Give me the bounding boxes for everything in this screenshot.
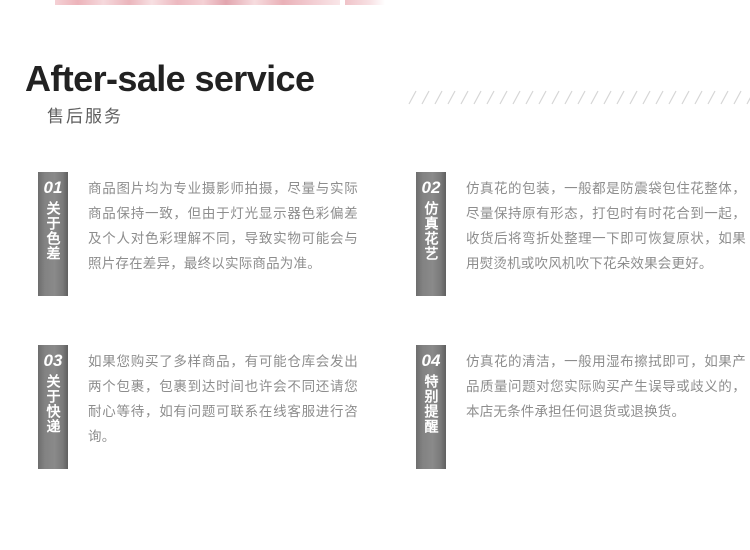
after-sale-service-page: After-sale service 售后服务 — [0, 0, 750, 550]
policy-row-1: 01 关于色差 商品图片均为专业摄影师拍摄，尽量与实际商品保持一致，但由于灯光显… — [0, 172, 750, 345]
policy-item-04: 04 特别提醒 仿真花的清洁，一般用湿布擦拭即可，如果产品质量问题对您实际购买产… — [416, 345, 746, 469]
policy-text-03: 如果您购买了多样商品，有可能仓库会发出两个包裹，包裹到达时间也许会不同还请您耐心… — [88, 345, 358, 449]
policy-text-02: 仿真花的包装，一般都是防震袋包住花整体，尽量保持原有形态，打包时有时花合到一起，… — [466, 172, 746, 276]
policy-number-01: 01 — [44, 177, 63, 199]
policy-label-03: 关于快递 — [44, 374, 63, 434]
policy-items-grid: 01 关于色差 商品图片均为专业摄影师拍摄，尽量与实际商品保持一致，但由于灯光显… — [0, 172, 750, 518]
policy-item-03: 03 关于快递 如果您购买了多样商品，有可能仓库会发出两个包裹，包裹到达时间也许… — [38, 345, 358, 469]
page-heading: After-sale service 售后服务 — [25, 58, 314, 128]
page-title-chinese: 售后服务 — [47, 106, 314, 128]
policy-number-04: 04 — [422, 350, 441, 372]
policy-row-2: 03 关于快递 如果您购买了多样商品，有可能仓库会发出两个包裹，包裹到达时间也许… — [0, 345, 750, 518]
policy-label-02: 仿真花艺 — [422, 201, 441, 261]
policy-item-02: 02 仿真花艺 仿真花的包装，一般都是防震袋包住花整体，尽量保持原有形态，打包时… — [416, 172, 746, 296]
policy-label-04: 特别提醒 — [422, 374, 441, 434]
policy-label-01: 关于色差 — [44, 201, 63, 261]
diagonal-slash-rule-icon — [405, 88, 750, 108]
policy-number-03: 03 — [44, 350, 63, 372]
policy-badge-02: 02 仿真花艺 — [416, 172, 446, 296]
top-photo-strip-segment-2 — [345, 0, 385, 5]
policy-badge-04: 04 特别提醒 — [416, 345, 446, 469]
policy-number-02: 02 — [422, 177, 441, 199]
policy-text-04: 仿真花的清洁，一般用湿布擦拭即可，如果产品质量问题对您实际购买产生误导或歧义的，… — [466, 345, 746, 424]
policy-badge-03: 03 关于快递 — [38, 345, 68, 469]
top-photo-strip — [55, 0, 340, 5]
policy-text-01: 商品图片均为专业摄影师拍摄，尽量与实际商品保持一致，但由于灯光显示器色彩偏差及个… — [88, 172, 358, 276]
policy-item-01: 01 关于色差 商品图片均为专业摄影师拍摄，尽量与实际商品保持一致，但由于灯光显… — [38, 172, 358, 296]
page-title-english: After-sale service — [25, 58, 314, 100]
policy-badge-01: 01 关于色差 — [38, 172, 68, 296]
